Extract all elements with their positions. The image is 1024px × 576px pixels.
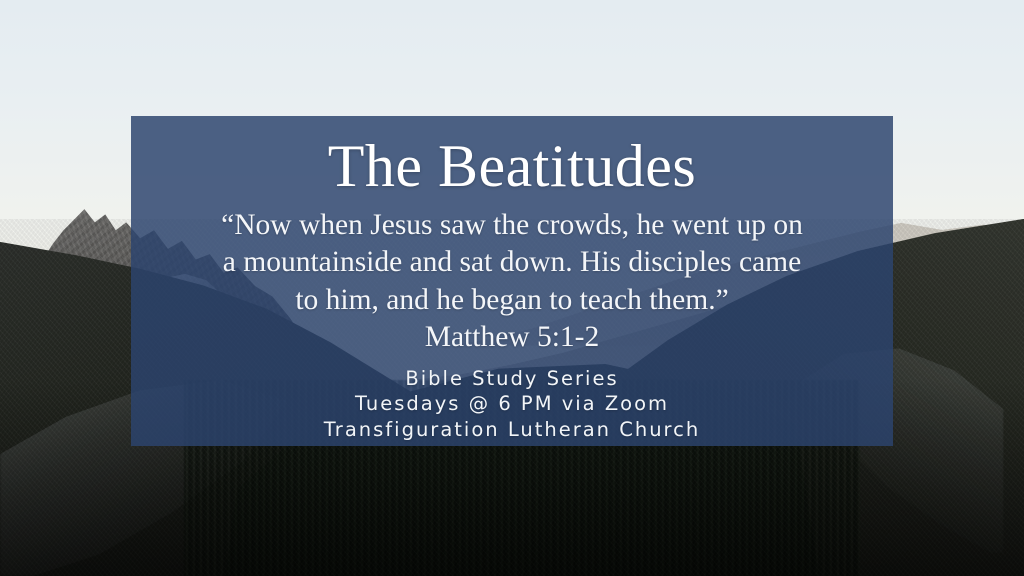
detail-line-series: Bible Study Series [324,366,700,392]
detail-line-schedule: Tuesdays @ 6 PM via Zoom [324,391,700,417]
scripture-quote: “Now when Jesus saw the crowds, he went … [212,207,812,318]
scripture-reference: Matthew 5:1-2 [425,319,600,356]
text-overlay-panel: The Beatitudes “Now when Jesus saw the c… [131,116,893,446]
presentation-slide: The Beatitudes “Now when Jesus saw the c… [0,0,1024,576]
event-details: Bible Study Series Tuesdays @ 6 PM via Z… [324,366,700,443]
page-title: The Beatitudes [328,136,697,197]
detail-line-organization: Transfiguration Lutheran Church [324,417,700,443]
